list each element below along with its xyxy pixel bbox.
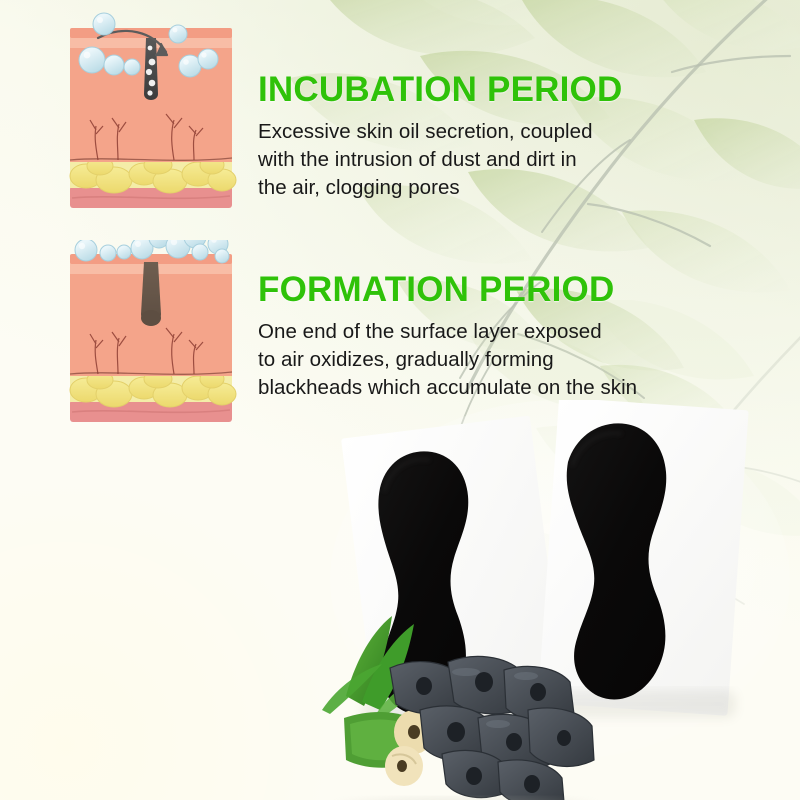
body-line: One end of the surface layer exposed <box>258 318 698 346</box>
body-line: blackheads which accumulate on the skin <box>258 374 698 402</box>
skin-block <box>70 254 236 422</box>
body-line: Excessive skin oil secretion, coupled <box>258 118 658 146</box>
skin-diagram-incubation <box>62 8 240 220</box>
body-incubation: Excessive skin oil secretion, coupled wi… <box>258 118 658 202</box>
heading-incubation: INCUBATION PERIOD <box>258 72 658 109</box>
section-incubation: INCUBATION PERIOD Excessive skin oil sec… <box>258 72 658 202</box>
clogged-pore <box>144 38 158 100</box>
section-formation: FORMATION PERIOD One end of the surface … <box>258 272 698 402</box>
heading-formation: FORMATION PERIOD <box>258 272 698 309</box>
product-photo-nose-strips <box>300 400 800 800</box>
body-formation: One end of the surface layer exposed to … <box>258 318 698 402</box>
bamboo-stalks <box>344 710 434 786</box>
body-line: the air, clogging pores <box>258 174 658 202</box>
body-line: to air oxidizes, gradually forming <box>258 346 698 374</box>
body-line: with the intrusion of dust and dirt in <box>258 146 658 174</box>
blackhead-plug <box>141 262 161 326</box>
skin-diagram-formation <box>62 240 240 432</box>
infographic-canvas: INCUBATION PERIOD Excessive skin oil sec… <box>0 0 800 800</box>
